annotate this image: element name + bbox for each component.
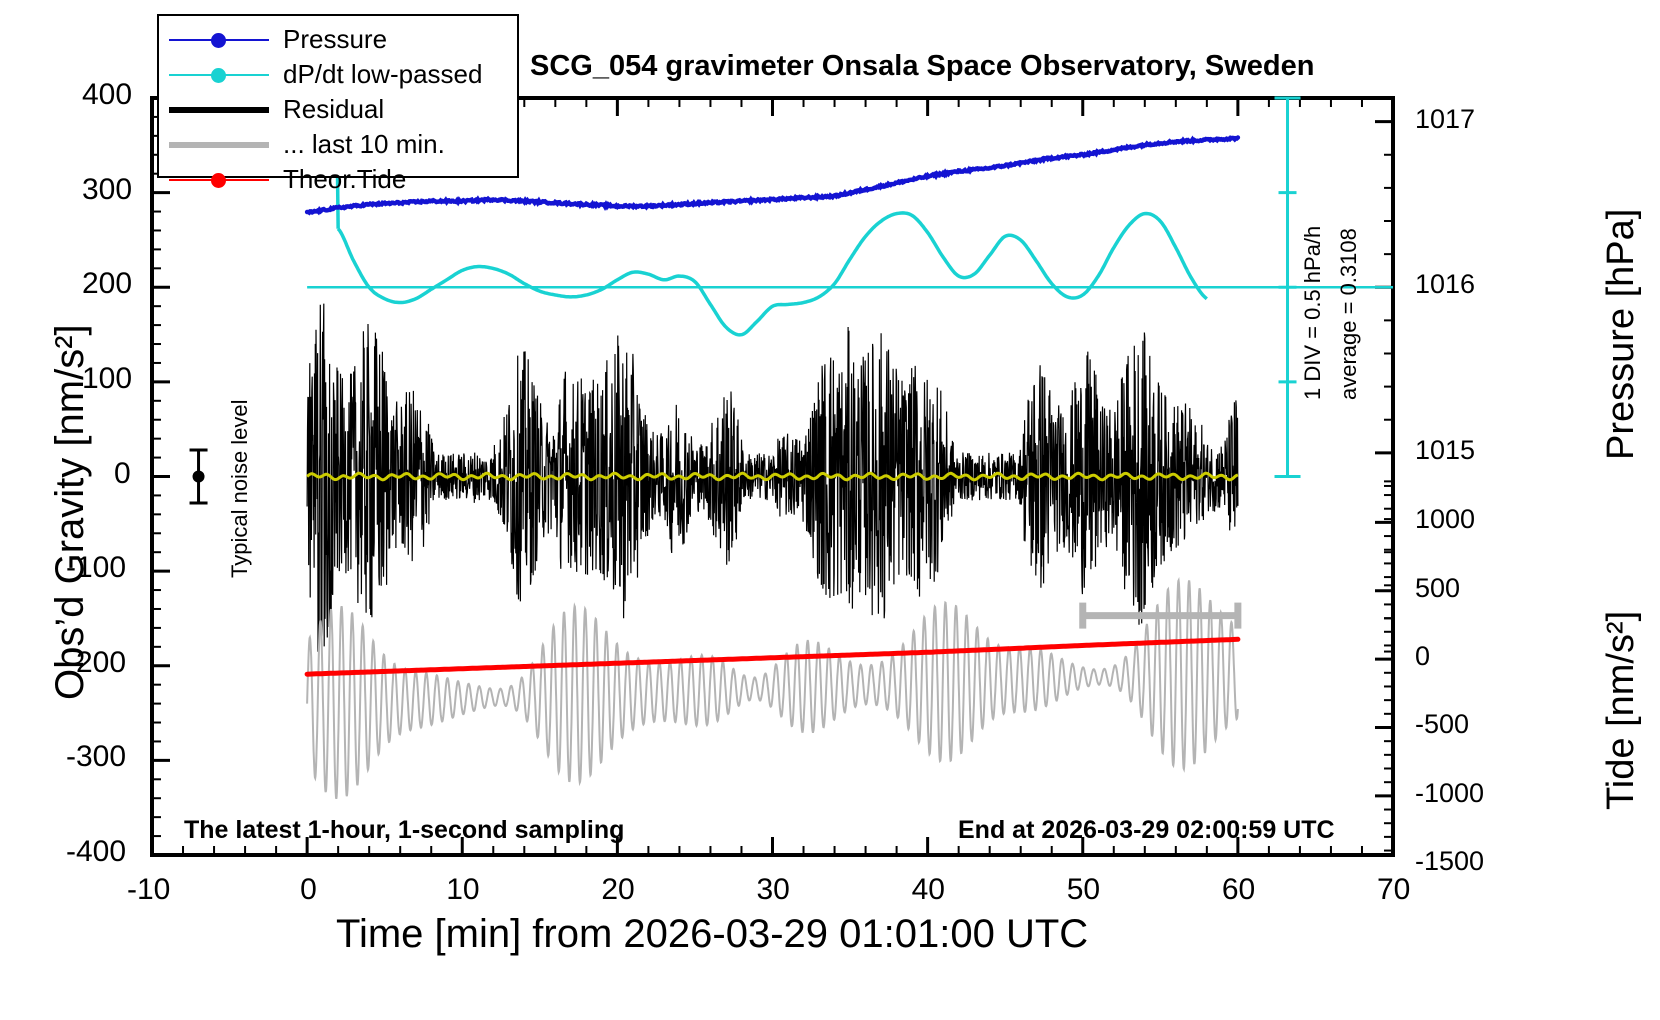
y-tick-100: 100 xyxy=(82,362,132,396)
x-tick-10: 10 xyxy=(446,873,479,907)
x-axis-title: Time [min] from 2026-03-29 01:01:00 UTC xyxy=(336,912,1088,957)
y-tick-pressure-1016: 1016 xyxy=(1415,269,1475,300)
legend-item-3[interactable]: ... last 10 min. xyxy=(159,127,517,162)
y-tick-400: 400 xyxy=(82,78,132,112)
y-tick-300: 300 xyxy=(82,173,132,207)
y-tick-pressure-1015: 1015 xyxy=(1415,435,1475,466)
legend-key-icon xyxy=(169,135,269,155)
typical-noise-level-label: Typical noise level xyxy=(227,399,253,578)
legend-item-label: Pressure xyxy=(283,24,387,55)
x-tick-50: 50 xyxy=(1067,873,1100,907)
y-tick-pressure-1017: 1017 xyxy=(1415,104,1475,135)
legend-item-0[interactable]: Pressure xyxy=(159,22,517,57)
y-axis-right-tide-title: Tide [nm/s²] xyxy=(1600,611,1643,810)
legend-key-icon xyxy=(169,170,269,190)
x-tick--10: -10 xyxy=(127,873,170,907)
y-axis-right-pressure-title: Pressure [hPa] xyxy=(1600,209,1643,460)
y-tick-tide-0: 0 xyxy=(1415,641,1430,672)
y-tick--300: -300 xyxy=(66,740,126,774)
x-tick-0: 0 xyxy=(300,873,317,907)
y-tick-tide--1500: -1500 xyxy=(1415,846,1484,877)
scale-average-label: average = 0.3108 xyxy=(1336,228,1362,400)
legend-item-label: dP/dt low-passed xyxy=(283,59,482,90)
x-tick-30: 30 xyxy=(757,873,790,907)
legend-key-icon xyxy=(169,100,269,120)
legend-item-1[interactable]: dP/dt low-passed xyxy=(159,57,517,92)
y-tick--200: -200 xyxy=(66,646,126,680)
legend-key-icon xyxy=(169,65,269,85)
y-tick-tide-1000: 1000 xyxy=(1415,504,1475,535)
legend-item-label: Residual xyxy=(283,94,384,125)
sampling-note: The latest 1-hour, 1-second sampling xyxy=(184,816,624,845)
y-tick-tide--500: -500 xyxy=(1415,709,1469,740)
legend-item-2[interactable]: Residual xyxy=(159,92,517,127)
legend-item-label: ... last 10 min. xyxy=(283,129,445,160)
y-tick-200: 200 xyxy=(82,267,132,301)
chart-legend: PressuredP/dt low-passedResidual... last… xyxy=(157,14,519,178)
x-tick-40: 40 xyxy=(912,873,945,907)
x-tick-70: 70 xyxy=(1377,873,1410,907)
x-tick-20: 20 xyxy=(601,873,634,907)
y-tick-tide--1000: -1000 xyxy=(1415,778,1484,809)
chart-canvas: SCG_054 gravimeter Onsala Space Observat… xyxy=(0,0,1660,1020)
legend-item-label: Theor.Tide xyxy=(283,164,406,195)
y-tick-0: 0 xyxy=(114,457,131,491)
scale-div-label: 1 DIV = 0.5 hPa/h xyxy=(1300,226,1326,400)
legend-item-4[interactable]: Theor.Tide xyxy=(159,162,517,197)
y-tick-tide-500: 500 xyxy=(1415,573,1460,604)
y-tick--400: -400 xyxy=(66,835,126,869)
x-tick-60: 60 xyxy=(1222,873,1255,907)
end-time-note: End at 2026-03-29 02:00:59 UTC xyxy=(958,816,1335,845)
chart-title: SCG_054 gravimeter Onsala Space Observat… xyxy=(530,50,1314,83)
y-tick--100: -100 xyxy=(66,551,126,585)
legend-key-icon xyxy=(169,30,269,50)
